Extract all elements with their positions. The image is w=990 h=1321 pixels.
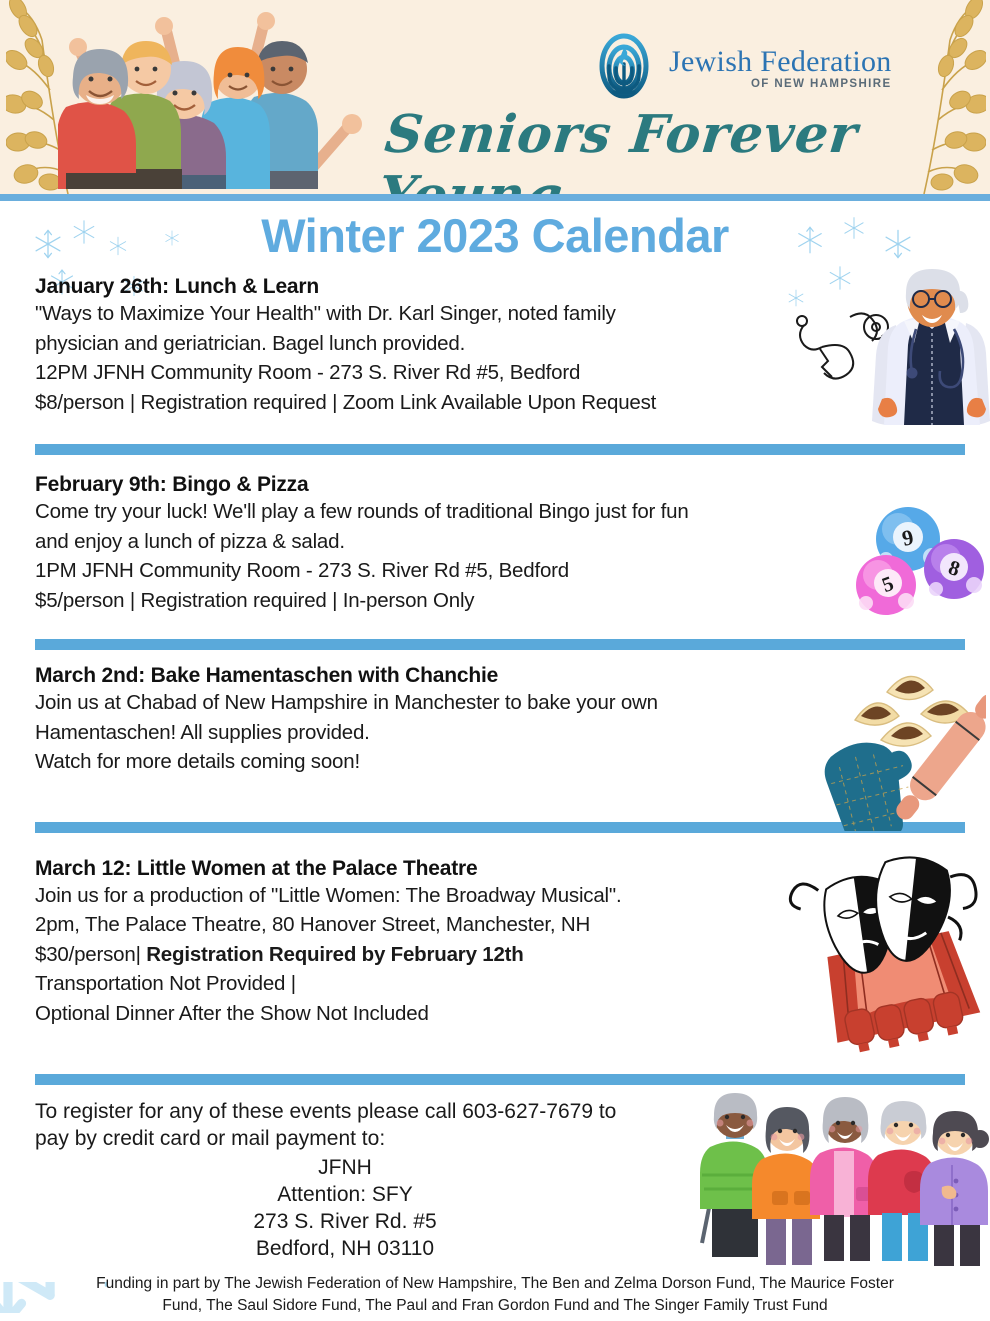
program-title: Seniors Forever Young [376,104,990,194]
seniors-group-illustration [58,7,378,194]
funding-credits: Funding in part by The Jewish Federation… [0,1273,990,1319]
address-line: 273 S. River Rd. #5 [35,1209,655,1236]
event-line: Hamentaschen! All supplies provided. [35,718,990,748]
event-line: and enjoy a lunch of pizza & salad. [35,527,990,557]
event-line: "Ways to Maximize Your Health" with Dr. … [35,299,990,329]
event-line: physician and geriatrician. Bagel lunch … [35,329,990,359]
event-january-lunch-learn: January 26th: Lunch & Learn "Ways to Max… [0,275,990,417]
event-line: 2pm, The Palace Theatre, 80 Hanover Stre… [35,910,990,940]
header-banner: Jewish Federation OF NEW HAMPSHIRE Senio… [0,0,990,194]
register-line-2: pay by credit card or mail payment to: [35,1126,990,1153]
calendar-content: Winter 2023 Calendar [0,208,990,1318]
event-title: March 2nd: Bake Hamentaschen with Chanch… [35,664,990,688]
section-divider [35,822,965,833]
event-line: $8/person | Registration required | Zoom… [35,388,990,418]
price-text: $30/person| [35,943,146,966]
event-line: Watch for more details coming soon! [35,747,990,777]
event-line: Join us for a production of "Little Wome… [35,881,990,911]
event-march-hamentaschen: March 2nd: Bake Hamentaschen with Chanch… [0,664,990,777]
event-title: February 9th: Bingo & Pizza [35,473,990,497]
address-line: Attention: SFY [35,1182,655,1209]
event-title: January 26th: Lunch & Learn [35,275,990,299]
event-line: 1PM JFNH Community Room - 273 S. River R… [35,556,990,586]
menorah-logo-icon [588,30,660,107]
event-line: 12PM JFNH Community Room - 273 S. River … [35,358,990,388]
section-divider [35,639,965,650]
address-line: Bedford, NH 03110 [35,1236,655,1263]
event-line: Join us at Chabad of New Hampshire in Ma… [35,688,990,718]
address-line: JFNH [35,1155,655,1182]
funding-line: Funding in part by The Jewish Federation… [40,1273,950,1296]
event-february-bingo-pizza: 9 8 5 Feb [0,473,990,615]
event-line: $5/person | Registration required | In-p… [35,586,990,616]
event-title: March 12: Little Women at the Palace The… [35,857,990,881]
funding-line: Fund, The Saul Sidore Fund, The Paul and… [40,1295,950,1318]
jewish-federation-logo: Jewish Federation OF NEW HAMPSHIRE [588,30,892,107]
event-line: Come try your luck! We'll play a few rou… [35,497,990,527]
section-divider [35,444,965,455]
registration-info: To register for any of these events plea… [0,1085,990,1262]
register-line-1: To register for any of these events plea… [35,1099,990,1126]
event-line: Transportation Not Provided | [35,969,990,999]
page-title: Winter 2023 Calendar [0,208,990,263]
event-march-little-women: March 12: Little Women at the Palace The… [0,857,990,1029]
logo-org-subtitle: OF NEW HAMPSHIRE [669,79,892,91]
event-price-line: $30/person| Registration Required by Feb… [35,940,990,970]
section-divider [35,1074,965,1085]
header-bottom-rule [0,194,990,201]
event-line: Optional Dinner After the Show Not Inclu… [35,999,990,1029]
logo-org-name: Jewish Federation [669,47,892,77]
registration-deadline: Registration Required by February 12th [146,943,523,966]
